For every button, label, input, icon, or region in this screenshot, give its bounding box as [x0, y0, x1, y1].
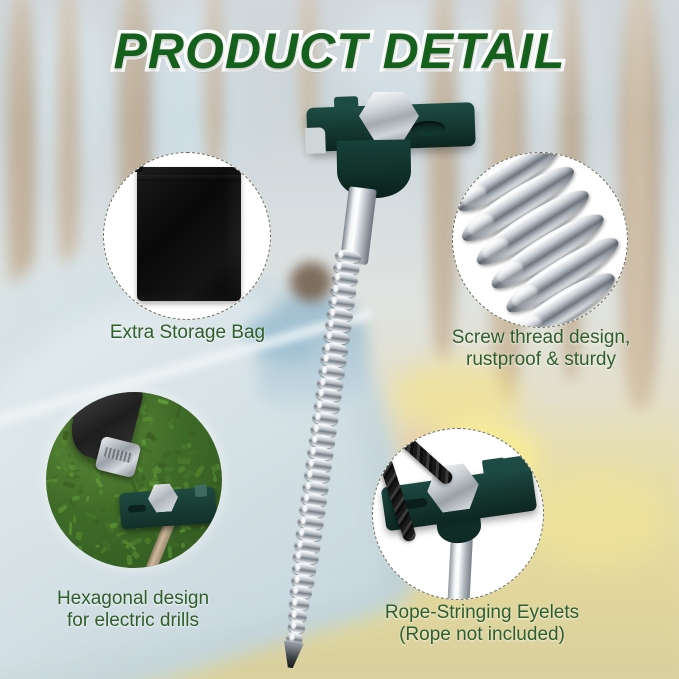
- grass-blade: [86, 458, 92, 467]
- grass-blade: [180, 566, 188, 568]
- grass-blade: [115, 531, 126, 538]
- grass-blade: [131, 537, 143, 546]
- grass-blade: [55, 465, 61, 470]
- grass-blade: [141, 475, 145, 481]
- grass-blade: [177, 459, 190, 465]
- grass-blade: [69, 521, 72, 534]
- black-drawstring-bag-icon: [137, 167, 241, 301]
- stake-head-step: [482, 457, 506, 475]
- grass-blade: [75, 475, 80, 478]
- grass-blade: [57, 503, 68, 513]
- grass-blade: [62, 558, 72, 567]
- grass-blade: [168, 423, 175, 430]
- rope-eyelets-circle: [372, 428, 544, 600]
- grass-blade: [210, 524, 216, 530]
- grass-blade: [58, 410, 66, 418]
- grass-blade: [161, 451, 172, 460]
- grass-blade: [190, 411, 196, 417]
- grass-blade: [141, 439, 146, 445]
- grass-blade: [72, 515, 76, 523]
- grass-blade: [76, 531, 83, 540]
- grass-blade: [220, 557, 222, 563]
- grass-blade: [85, 505, 92, 512]
- grass-blade: [99, 536, 104, 538]
- grass-blade: [183, 469, 194, 480]
- stake-eyelet: [128, 505, 146, 513]
- grass-blade: [210, 463, 221, 472]
- product-detail-image: PRODUCT DETAIL Extra Storage Bag: [0, 0, 679, 679]
- grass-blade: [176, 405, 182, 418]
- grass-blade: [180, 542, 185, 548]
- grass-blade: [144, 537, 152, 545]
- grass-blade: [76, 545, 83, 551]
- storage-bag-caption: Extra Storage Bag: [65, 322, 310, 344]
- grass-blade: [184, 405, 189, 411]
- screw-thread-caption: Screw thread design, rustproof & sturdy: [430, 327, 652, 372]
- grass-blade: [52, 549, 65, 557]
- grass-blade: [95, 545, 99, 548]
- grass-blade: [210, 550, 221, 558]
- grass-blade: [47, 398, 54, 403]
- grass-blade: [219, 541, 222, 554]
- grass-blade: [91, 518, 100, 525]
- grass-blade: [157, 398, 169, 405]
- grass-blade: [66, 550, 71, 554]
- grass-blade: [220, 498, 222, 505]
- screw-thread-circle: [452, 152, 628, 328]
- grass-blade: [47, 499, 56, 503]
- grass-blade: [93, 550, 99, 559]
- grass-blade: [84, 475, 90, 478]
- grass-blade: [46, 537, 54, 542]
- grass-blade: [188, 429, 195, 436]
- grass-blade: [174, 450, 181, 455]
- blurred-camper-head: [290, 262, 332, 302]
- hexagonal-drill-circle: [46, 392, 222, 568]
- grass-blade: [141, 446, 153, 454]
- grass-blade: [158, 563, 163, 568]
- grass-blade: [187, 442, 192, 448]
- grass-blade: [126, 554, 132, 564]
- rope-eyelets-caption: Rope-Stringing Eyelets (Rope not include…: [352, 602, 612, 647]
- stake-notch: [194, 484, 207, 497]
- grass-blade: [205, 449, 210, 451]
- grass-blade: [99, 488, 105, 495]
- grass-blade: [72, 495, 81, 501]
- grass-blade: [164, 467, 173, 472]
- screw-thread-macro-icon: [452, 152, 628, 328]
- grass-blade: [46, 510, 52, 518]
- grass-blade: [74, 469, 80, 472]
- grass-blade: [131, 550, 140, 559]
- grass-blade: [67, 453, 72, 458]
- grass-blade: [85, 495, 90, 502]
- grass-blade: [57, 558, 61, 566]
- grass-blade: [53, 448, 61, 456]
- grass-blade: [48, 418, 56, 423]
- grass-blade: [51, 442, 56, 445]
- grass-blade: [136, 465, 144, 473]
- grass-blade: [167, 546, 171, 558]
- grass-blade: [85, 511, 97, 519]
- bag-drawstring: [137, 175, 241, 181]
- storage-bag-circle: [103, 152, 271, 320]
- grass-blade: [97, 470, 101, 475]
- page-title: PRODUCT DETAIL: [0, 22, 679, 80]
- grass-blade: [82, 566, 94, 568]
- stake-head-step: [502, 454, 534, 474]
- grass-blade: [63, 481, 76, 489]
- grass-blade: [62, 439, 69, 445]
- stake-shaft: [447, 536, 473, 600]
- grass-blade: [115, 545, 121, 551]
- grass-blade: [200, 525, 206, 531]
- hexagonal-drill-caption: Hexagonal design for electric drills: [18, 588, 248, 633]
- grass-blade: [104, 507, 111, 515]
- grass-blade: [62, 430, 68, 439]
- grass-blade: [180, 444, 186, 450]
